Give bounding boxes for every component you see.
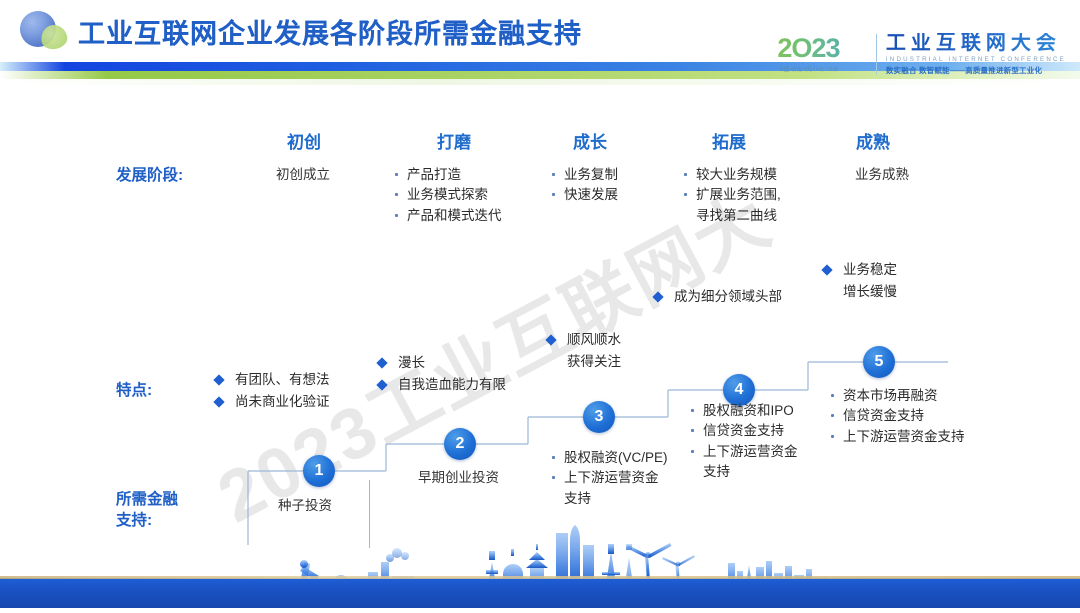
city-industry-skyline-icon — [0, 520, 1080, 608]
finance-item: 上下游运营资金 — [549, 468, 668, 488]
ground-band — [0, 578, 1080, 608]
feature-item: 尚未商业化验证 — [213, 391, 330, 413]
feature-cell-4: 成为细分领域头部 — [652, 286, 782, 308]
step-circle-3[interactable]: 3 — [583, 401, 615, 433]
finance-cell-2: 早期创业投资 — [418, 468, 499, 488]
feature-cell-3: 顺风顺水 获得关注 — [545, 329, 621, 373]
stage-item: 快速发展 — [549, 185, 618, 205]
stage-cell-3: 业务复制 快速发展 — [549, 165, 618, 206]
feature-item: 获得关注 — [545, 351, 621, 373]
finance-item: 支持 — [688, 462, 798, 482]
finance-item: 早期创业投资 — [418, 468, 499, 488]
stage-item: 初创成立 — [276, 165, 330, 185]
conference-year: 2O23 — [750, 35, 867, 62]
feature-item: 有团队、有想法 — [213, 369, 330, 391]
stage-cell-5: 业务成熟 — [855, 165, 909, 185]
column-header-2: 打磨 — [437, 128, 471, 153]
feature-item: 顺风顺水 — [545, 329, 621, 351]
feature-cell-2: 漫长 自我造血能力有限 — [376, 352, 506, 396]
row-label-feature: 特点: — [116, 381, 152, 402]
finance-cell-3: 股权融资(VC/PE) 上下游运营资金 支持 — [549, 448, 668, 509]
column-header-1: 初创 — [287, 128, 321, 153]
finance-item: 上下游运营资金支持 — [828, 427, 965, 447]
feature-list-5: 业务稳定 增长缓慢 — [821, 259, 897, 303]
finance-item: 上下游运营资金 — [688, 442, 798, 462]
finance-list-3: 股权融资(VC/PE) 上下游运营资金 支持 — [549, 448, 668, 509]
conference-logo-name-block: 工业互联网大会 INDUSTRIAL INTERNET CONFERENCE 数… — [886, 33, 1066, 76]
step-circle-1[interactable]: 1 — [303, 455, 335, 487]
finance-list-4: 股权融资和IPO 信贷资金支持 上下游运营资金 支持 — [688, 401, 798, 482]
page-title: 工业互联网企业发展各阶段所需金融支持 — [78, 12, 582, 51]
finance-cell-4: 股权融资和IPO 信贷资金支持 上下游运营资金 支持 — [688, 401, 798, 482]
finance-item: 信贷资金支持 — [688, 421, 798, 441]
feature-item: 业务稳定 — [821, 259, 897, 281]
finance-list-1: 种子投资 — [278, 496, 332, 516]
column-header-3: 成长 — [573, 128, 607, 153]
stage-list-5: 业务成熟 — [855, 165, 909, 185]
conference-logo-year-block: 2O23 中国·济南 8月14日-15日 — [750, 35, 867, 73]
feature-list-1: 有团队、有想法 尚未商业化验证 — [213, 369, 330, 413]
step-circle-2[interactable]: 2 — [444, 428, 476, 460]
stage-cell-1: 初创成立 — [276, 165, 330, 185]
finance-item: 种子投资 — [278, 496, 332, 516]
row-label-stage: 发展阶段: — [116, 166, 183, 187]
feature-item: 增长缓慢 — [821, 281, 897, 303]
finance-item: 支持 — [549, 489, 668, 509]
stage-cell-4: 较大业务规模 扩展业务范围, 寻找第二曲线 — [681, 165, 781, 226]
slide-root: 工业互联网企业发展各阶段所需金融支持 2O23 中国·济南 8月14日-15日 … — [0, 0, 1080, 608]
stage-item: 寻找第二曲线 — [681, 206, 781, 226]
sphere-leaf-logo-icon — [16, 8, 74, 54]
column-header-4: 拓展 — [712, 128, 746, 153]
stage-list-1: 初创成立 — [276, 165, 330, 185]
finance-list-5: 资本市场再融资 信贷资金支持 上下游运营资金支持 — [828, 386, 965, 447]
stage-list-3: 业务复制 快速发展 — [549, 165, 618, 206]
feature-cell-5: 业务稳定 增长缓慢 — [821, 259, 897, 303]
feature-item: 成为细分领域头部 — [652, 286, 782, 308]
stage-item: 产品打造 — [392, 165, 502, 185]
finance-item: 股权融资(VC/PE) — [549, 448, 668, 468]
conference-slogan: 数实融合 数智赋能——高质量推进新型工业化 — [886, 65, 1066, 76]
feature-list-2: 漫长 自我造血能力有限 — [376, 352, 506, 396]
feature-cell-1: 有团队、有想法 尚未商业化验证 — [213, 369, 330, 413]
stage-list-2: 产品打造 业务模式探索 产品和模式迭代 — [392, 165, 502, 226]
stage-list-4: 较大业务规模 扩展业务范围, 寻找第二曲线 — [681, 165, 781, 226]
conference-date: 中国·济南 8月14日-15日 — [750, 66, 867, 73]
stage-item: 业务模式探索 — [392, 185, 502, 205]
stage-item: 产品和模式迭代 — [392, 206, 502, 226]
column-header-5: 成熟 — [856, 128, 890, 153]
conference-logo: 2O23 中国·济南 8月14日-15日 工业互联网大会 INDUSTRIAL … — [750, 28, 1066, 80]
finance-list-2: 早期创业投资 — [418, 468, 499, 488]
feature-list-4: 成为细分领域头部 — [652, 286, 782, 308]
stage-item: 业务复制 — [549, 165, 618, 185]
stage-item: 扩展业务范围, — [681, 185, 781, 205]
finance-item: 信贷资金支持 — [828, 406, 965, 426]
conference-name-cn: 工业互联网大会 — [886, 33, 1066, 54]
step-circle-5[interactable]: 5 — [863, 346, 895, 378]
finance-cell-1: 种子投资 — [278, 496, 332, 516]
conference-name-en: INDUSTRIAL INTERNET CONFERENCE — [886, 56, 1066, 63]
stage-item: 较大业务规模 — [681, 165, 781, 185]
slide-header: 工业互联网企业发展各阶段所需金融支持 2O23 中国·济南 8月14日-15日 … — [0, 0, 1080, 92]
finance-item: 资本市场再融资 — [828, 386, 965, 406]
stage-item: 业务成熟 — [855, 165, 909, 185]
feature-list-3: 顺风顺水 获得关注 — [545, 329, 621, 373]
finance-cell-5: 资本市场再融资 信贷资金支持 上下游运营资金支持 — [828, 386, 965, 447]
feature-item: 漫长 — [376, 352, 506, 374]
stage-cell-2: 产品打造 业务模式探索 产品和模式迭代 — [392, 165, 502, 226]
conference-logo-divider — [876, 34, 877, 74]
feature-item: 自我造血能力有限 — [376, 374, 506, 396]
finance-item: 股权融资和IPO — [688, 401, 798, 421]
